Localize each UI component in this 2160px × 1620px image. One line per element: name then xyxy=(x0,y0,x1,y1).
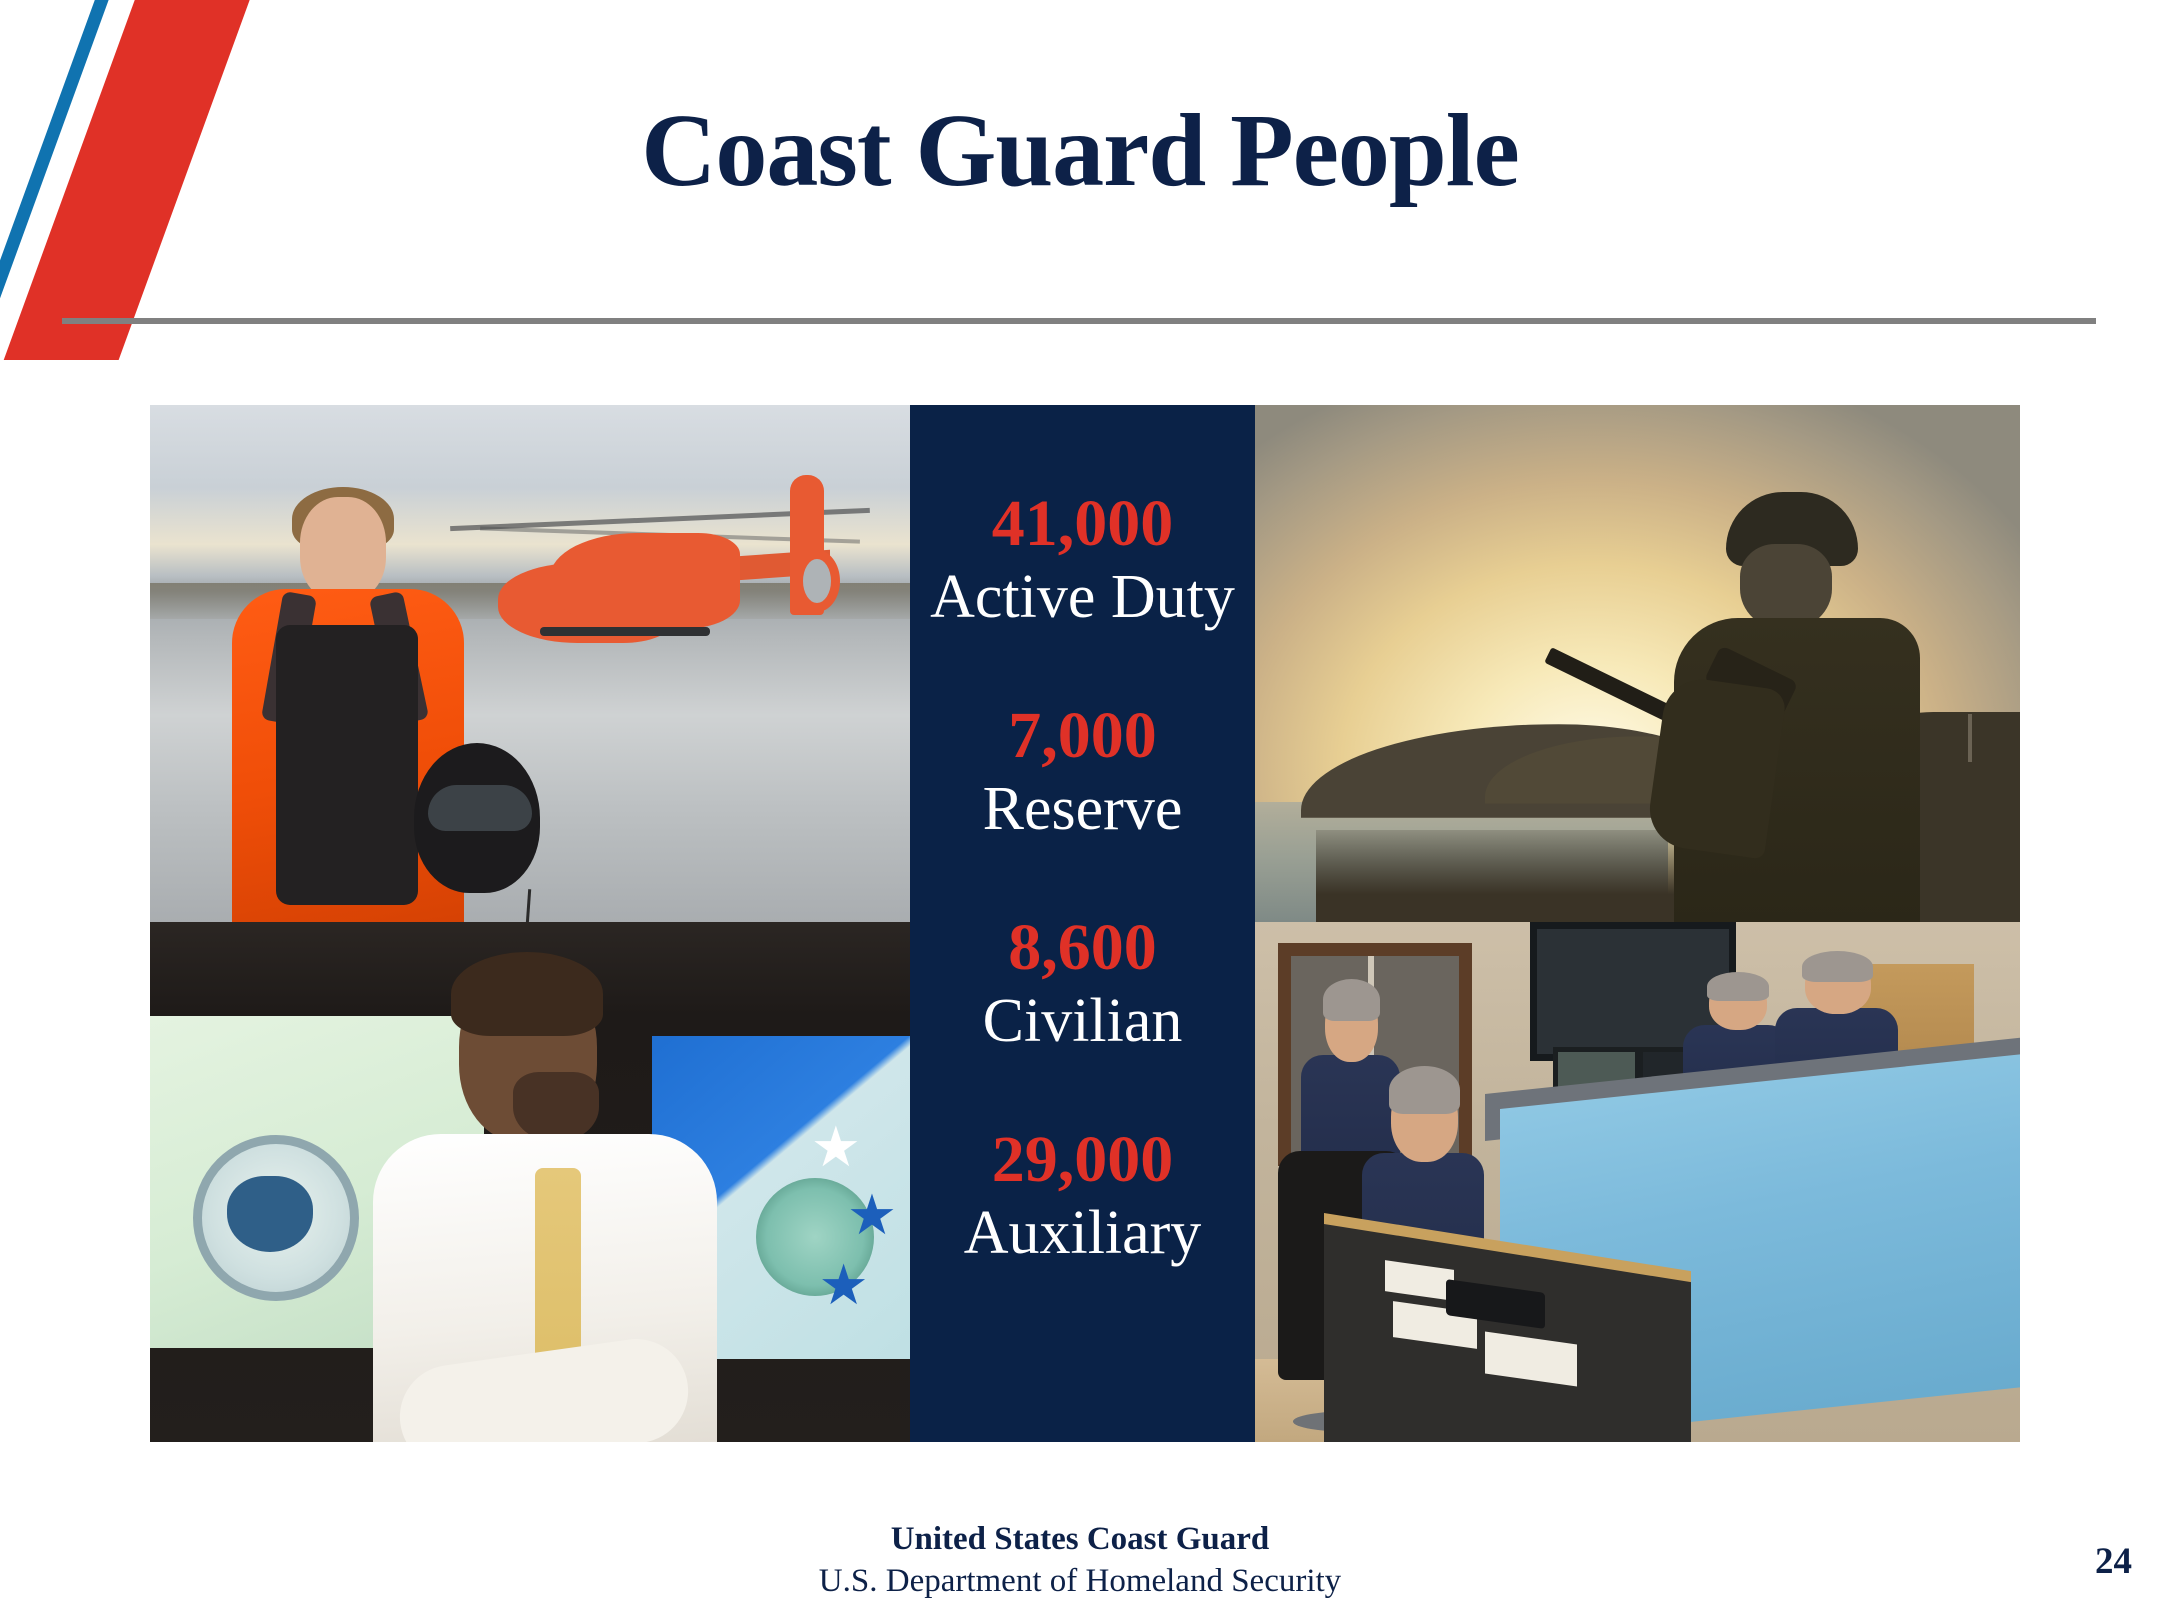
helicopter-fenestron xyxy=(794,550,840,612)
page-number: 24 xyxy=(2095,1540,2132,1583)
auxiliary-hair xyxy=(1802,951,1873,983)
civilian-photo: ★ ★ ★ xyxy=(150,922,910,1442)
civilian-figure xyxy=(363,922,723,1442)
flag-star-icon: ★ xyxy=(811,1120,861,1176)
helicopter-fuselage xyxy=(550,533,740,629)
stat-number: 7,000 xyxy=(983,699,1183,773)
stat-active-duty: 41,000 Active Duty xyxy=(930,487,1235,631)
stat-civilian: 8,600 Civilian xyxy=(983,911,1183,1055)
wind-turbine xyxy=(1968,714,1972,762)
civilian-beard xyxy=(513,1072,599,1142)
dhs-seal-icon xyxy=(193,1135,359,1301)
helmet-visor xyxy=(428,785,532,831)
content-grid: 41,000 Active Duty 7,000 Reserve 8,600 C… xyxy=(150,405,2020,1442)
title-divider xyxy=(62,318,2096,324)
stat-number: 41,000 xyxy=(930,487,1235,561)
aviator-survival-vest xyxy=(276,625,418,905)
dhs-eagle-icon xyxy=(227,1176,313,1252)
reservist-arm xyxy=(1645,674,1787,859)
aviator-head xyxy=(300,497,386,601)
stat-label: Civilian xyxy=(983,987,1183,1055)
footer-organization: United States Coast Guard xyxy=(0,1518,2160,1560)
aviator-figure xyxy=(222,497,482,922)
reservist-photo xyxy=(1255,405,2020,922)
auxiliary-hair xyxy=(1707,972,1769,1001)
page-title: Coast Guard People xyxy=(0,96,2160,205)
stat-auxiliary: 29,000 Auxiliary xyxy=(964,1123,1202,1267)
civilian-hair xyxy=(451,952,603,1036)
footer-department: U.S. Department of Homeland Security xyxy=(0,1560,2160,1602)
reservist-figure xyxy=(1648,492,1948,922)
stat-number: 8,600 xyxy=(983,911,1183,985)
stat-number: 29,000 xyxy=(964,1123,1202,1197)
auxiliary-hair xyxy=(1323,979,1381,1021)
stat-label: Reserve xyxy=(983,775,1183,843)
aircrew-photo xyxy=(150,405,910,922)
auxiliary-photo xyxy=(1255,922,2020,1442)
helicopter-landing-gear xyxy=(540,627,710,636)
auxiliary-hair xyxy=(1389,1066,1460,1114)
stat-label: Active Duty xyxy=(930,563,1235,631)
flag-star-icon: ★ xyxy=(818,1258,868,1314)
helmet-cord xyxy=(516,889,531,922)
flag-star-icon: ★ xyxy=(847,1188,897,1244)
stat-label: Auxiliary xyxy=(964,1199,1202,1267)
stat-reserve: 7,000 Reserve xyxy=(983,699,1183,843)
statistics-panel: 41,000 Active Duty 7,000 Reserve 8,600 C… xyxy=(910,405,1255,1442)
slide-footer: United States Coast Guard U.S. Departmen… xyxy=(0,1518,2160,1602)
